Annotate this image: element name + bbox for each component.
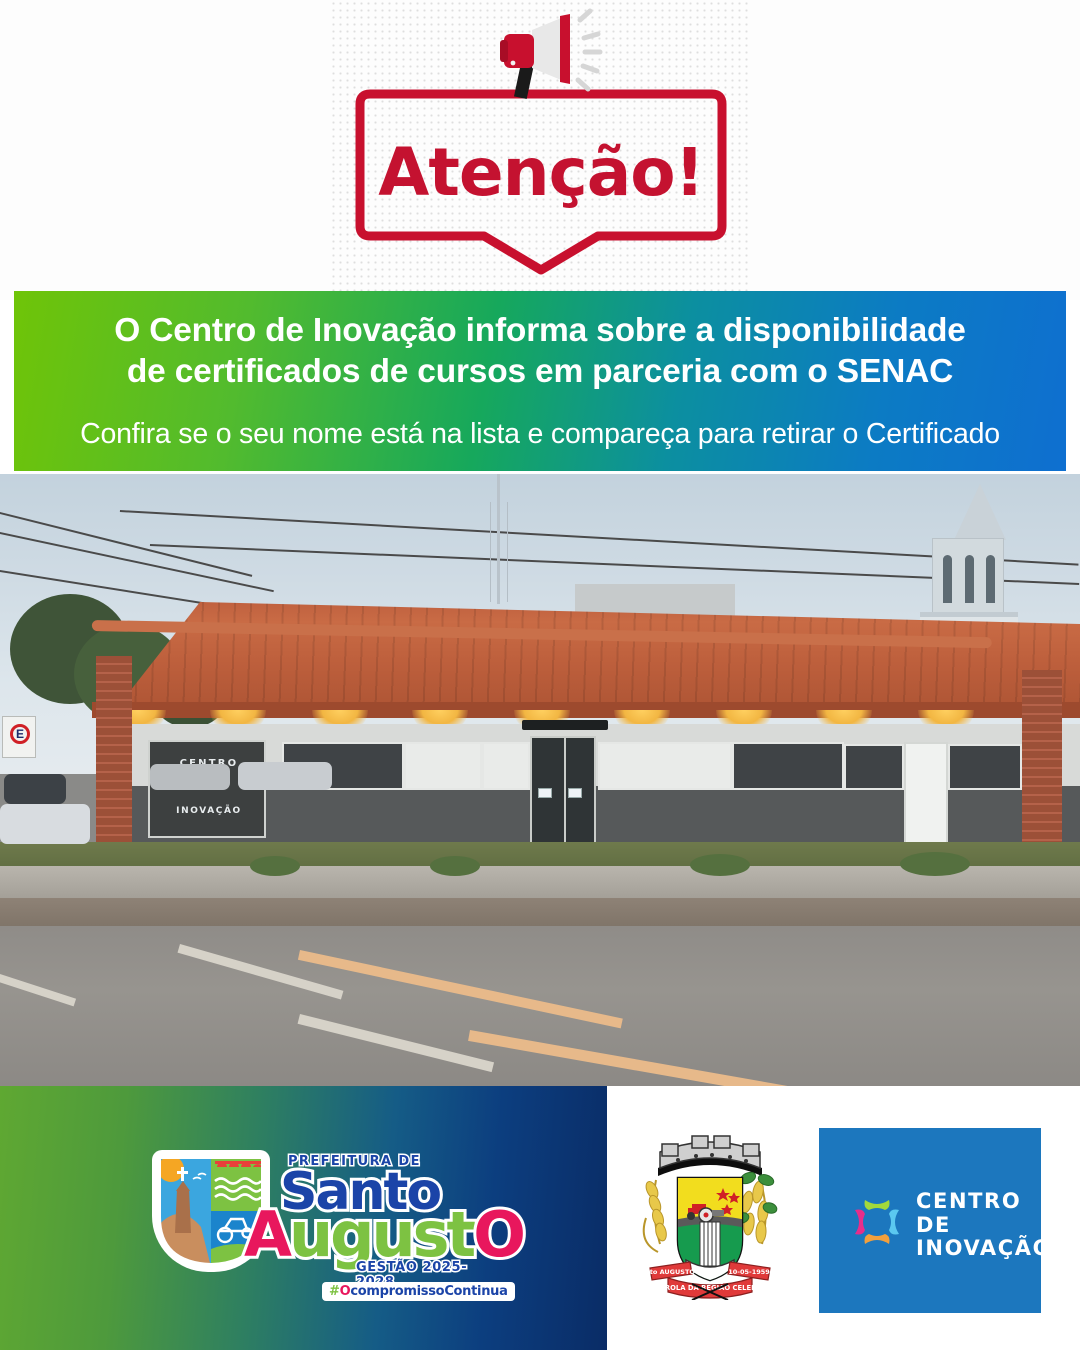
side-door <box>904 742 948 858</box>
innovation-logo-line-1: CENTRO DE <box>916 1190 1052 1237</box>
church-spire <box>954 484 1006 540</box>
entrance-doors <box>530 736 596 858</box>
banner-subtitle: Confira se o seu nome está na lista e co… <box>14 418 1066 451</box>
parked-car <box>0 804 90 844</box>
no-parking-sign: E <box>2 716 36 758</box>
parked-car <box>4 774 66 804</box>
building-photo: CENTRO DE INOVAÇÃO E <box>0 474 1080 1086</box>
banner-line-2: de certificados de cursos em parceria co… <box>28 352 1052 393</box>
coat-ribbon-bottom: PÉROLA DA REGIÃO CELEIRO <box>655 1283 765 1292</box>
hashtag-compromisso: compromisso <box>350 1284 444 1299</box>
megaphone-icon <box>480 8 610 100</box>
city-logo-hashtag: #OcompromissoContinua <box>322 1282 515 1301</box>
window-pane <box>948 744 1022 790</box>
belfry-window <box>986 555 995 603</box>
door-canopy <box>522 720 608 730</box>
shrub <box>900 852 970 876</box>
attention-text: Atenção! <box>348 134 734 211</box>
hashtag-symbol: # <box>329 1284 340 1299</box>
belfry-window <box>965 555 974 603</box>
innovation-mark-icon <box>849 1194 905 1250</box>
parked-car <box>238 762 332 790</box>
building-sign-line-3: INOVAÇÃO <box>150 806 268 816</box>
coat-ribbon-right: 10-05-1959 <box>728 1268 770 1276</box>
shrub <box>430 856 480 876</box>
belfry-window <box>943 555 952 603</box>
door-notice <box>568 788 582 798</box>
banner-line-1: O Centro de Inovação informa sobre a dis… <box>28 311 1052 352</box>
shrub <box>690 854 750 876</box>
hashtag-o: O <box>340 1284 351 1299</box>
door-notice <box>538 788 552 798</box>
coat-of-arms: Sto AUGUSTO 10-05-1959 PÉROLA DA REGIÃO … <box>630 1122 790 1300</box>
coat-ribbon-left: Sto AUGUSTO <box>645 1268 695 1276</box>
innovation-logo-line-2: INOVAÇÃO <box>916 1237 1052 1261</box>
banner-main-text: O Centro de Inovação informa sobre a dis… <box>14 311 1066 393</box>
church-belfry <box>932 538 1004 616</box>
augusto-a: A <box>244 1198 289 1271</box>
innovation-center-logo: CENTRO DE INOVAÇÃO <box>819 1128 1041 1313</box>
wall-panel <box>598 742 732 790</box>
wall-panel <box>482 742 530 790</box>
hashtag-continua: Continua <box>444 1284 507 1299</box>
innovation-logo-text: CENTRO DE INOVAÇÃO <box>916 1190 1052 1261</box>
brick-column-left <box>96 656 132 858</box>
antenna-frame <box>490 502 508 602</box>
window-pane <box>844 744 904 790</box>
parking-sign-letter: E <box>10 724 30 744</box>
parked-car <box>150 764 230 790</box>
window-pane <box>732 742 844 790</box>
shrub <box>250 856 300 876</box>
announcement-banner: O Centro de Inovação informa sobre a dis… <box>14 291 1066 471</box>
attention-callout: Atenção! <box>348 88 734 276</box>
city-hall-logo: PREFEITURA DE Santo AugustO GESTÃO 2025-… <box>152 1142 492 1312</box>
brick-column-right <box>1022 670 1062 858</box>
wall-panel <box>404 742 482 790</box>
